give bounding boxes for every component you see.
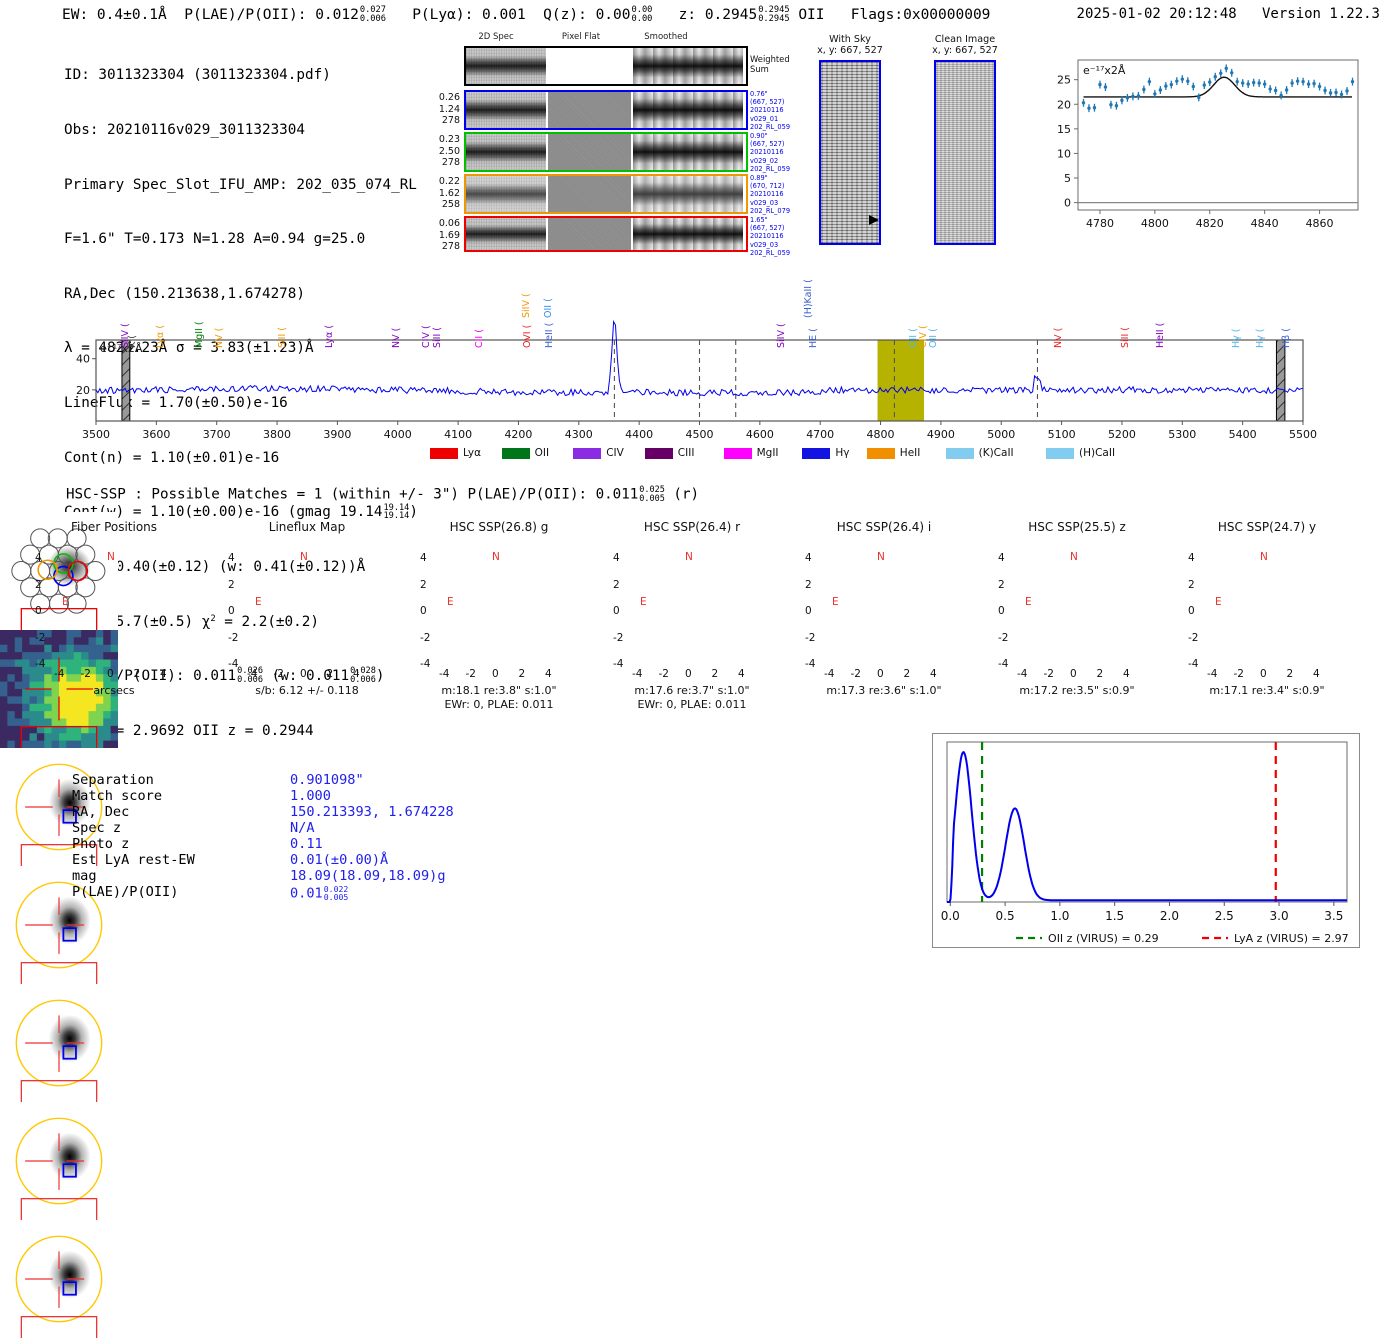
panel-4-xtick-0: -4 [824, 668, 834, 680]
weighted-sum-label-line2: Sum [750, 65, 790, 75]
match-val-plae-num: 0.01 [290, 885, 323, 901]
panel-2-xtick-2: 0 [492, 668, 499, 680]
panel-4-xtick-3: 2 [904, 668, 911, 680]
compass-east-label-0: E [62, 596, 69, 608]
panel-6-xtick-1: -2 [1234, 668, 1244, 680]
exposure-1-meta-1: (667, 527) [750, 98, 790, 106]
line-zoom-spectrum-plot: 051015202547804800482048404860e⁻¹⁷x2Å [1040, 52, 1370, 242]
match-val-plae: 0.010.0220.005 [290, 885, 348, 902]
svg-text:4400: 4400 [625, 428, 653, 441]
compass-east-label-4: E [832, 596, 839, 608]
exposure-2-meta-4: 202_RL_059 [750, 165, 790, 173]
svg-text:2.0: 2.0 [1160, 909, 1179, 923]
panel-6-xtick-0: -4 [1207, 668, 1217, 680]
panel-5-ytick-1: -2 [998, 632, 1008, 644]
match-key-specz: Spec z [72, 821, 121, 837]
compass-east-label-6: E [1215, 596, 1222, 608]
with-sky-title-text: With Sky [800, 34, 900, 45]
svg-text:25: 25 [1057, 74, 1071, 87]
exposure-4-meta-2: 20210116 [750, 232, 790, 240]
line-label-HeII-23: HeII ( [1155, 323, 1166, 348]
info-seeing: F=1.6" T=0.173 N=1.28 A=0.94 g=25.0 [64, 230, 418, 248]
full-spectrum-plot: 2040350036003700380039004000410042004300… [60, 268, 1360, 468]
svg-text:20: 20 [76, 384, 90, 397]
exposure-4-val-1: 0.06 [434, 218, 460, 230]
hsc-headline: HSC-SSP : Possible Matches = 1 (within +… [66, 486, 699, 503]
match-key-radec: RA, Dec [72, 805, 129, 821]
panel-0-ytick-4: 4 [35, 552, 42, 564]
panel-2-ytick-0: -4 [420, 658, 430, 670]
exposure-4-meta-3: v029_03 [750, 241, 790, 249]
match-key-estew: Est LyA rest-EW [72, 853, 195, 869]
line-label-HKaII-16: (H)KaII ( [803, 279, 814, 318]
exposure-4-meta-1: (667, 527) [750, 224, 790, 232]
svg-text:4600: 4600 [746, 428, 774, 441]
exposure-4-2dspec [466, 218, 546, 250]
panel-image-6[interactable] [0, 1220, 118, 1338]
exposure-3-values: 0.22 1.62 258 [434, 176, 460, 211]
header-qz-value: 0.00 [596, 7, 631, 23]
panel-6-xtick-2: 0 [1260, 668, 1267, 680]
panel-1-xtick-3: 2 [327, 668, 334, 680]
legend-swatch [724, 448, 752, 459]
exposure-4-smoothed [633, 218, 743, 250]
panel-5-ytick-4: 4 [998, 552, 1005, 564]
panel-title-2: HSC SSP(26.8) g [402, 520, 596, 534]
panel-1-ytick-0: -4 [228, 658, 238, 670]
clean-image-title: Clean Image x, y: 667, 527 [910, 34, 1020, 56]
legend-item-KCaII: (K)CaII [946, 447, 1014, 459]
with-sky-title: With Sky x, y: 667, 527 [800, 34, 900, 56]
exposure-3-meta: 0.89" (670, 712) 20210116 v029_03 202_RL… [750, 174, 790, 215]
panel-3-caption1: m:17.6 re:3.7" s:1.0" [583, 684, 801, 697]
line-label-NV-7: NV ( [391, 328, 402, 348]
panel-6-ytick-1: -2 [1188, 632, 1198, 644]
exposure-3-val-1: 0.22 [434, 176, 460, 188]
match-val-radec: 150.213393, 1.674228 [290, 805, 454, 821]
exposure-3-meta-3: v029_03 [750, 199, 790, 207]
legend-label: (H)CaII [1079, 447, 1115, 459]
panel-0-ytick-0: -4 [35, 658, 45, 670]
exposure-3-val-3: 258 [434, 199, 460, 211]
compass-north-label-2: N [492, 551, 500, 563]
legend-label: HeII [900, 447, 921, 459]
exposure-1-meta-0: 0.76" [750, 90, 790, 98]
spec2d-header-smoothed: Smoothed [626, 32, 706, 42]
exposure-4-meta-0: 1.65" [750, 216, 790, 224]
svg-text:1.0: 1.0 [1050, 909, 1069, 923]
line-label-NV-4: NV ( [214, 328, 225, 348]
panel-0-xtick-2: 0 [107, 668, 114, 680]
panel-title-4: HSC SSP(26.4) i [787, 520, 981, 534]
match-val-score: 1.000 [290, 789, 331, 805]
svg-text:5400: 5400 [1229, 428, 1257, 441]
panel-1-ytick-4: 4 [228, 552, 235, 564]
exposure-strip-2 [464, 132, 748, 172]
line-label-OII-20: OII ( [928, 328, 939, 348]
exposure-1-meta: 0.76" (667, 527) 20210116 v029_01 202_RL… [750, 90, 790, 131]
header-z-type: OII [798, 7, 824, 23]
svg-text:4800: 4800 [1141, 217, 1169, 230]
line-label-SiII-22: SiII ( [1120, 327, 1131, 348]
compass-east-label-1: E [255, 596, 262, 608]
match-key-plae: P(LAE)/P(OII) [72, 885, 178, 901]
svg-text:4900: 4900 [927, 428, 955, 441]
match-val-specz: N/A [290, 821, 315, 837]
panel-4-xtick-2: 0 [877, 668, 884, 680]
line-label-NV-21: NV ( [1053, 328, 1064, 348]
match-val-estew: 0.01(±0.00)Å [290, 853, 388, 869]
line-label-Ly-6: Lyα ( [324, 325, 335, 348]
header-version: Version 1.22.3 [1262, 6, 1380, 22]
svg-text:5: 5 [1064, 172, 1071, 185]
panel-4-ytick-0: -4 [805, 658, 815, 670]
exposure-1-val-1: 0.26 [434, 92, 460, 104]
compass-north-label-4: N [877, 551, 885, 563]
header-z-value: 0.2945 [705, 7, 757, 23]
match-val-separation: 0.901098" [290, 773, 364, 789]
panel-0-xtick-4: 4 [160, 668, 167, 680]
svg-text:3500: 3500 [82, 428, 110, 441]
panel-5-ytick-2: 0 [998, 605, 1005, 617]
exposure-3-meta-0: 0.89" [750, 174, 790, 182]
panel-1-xtick-4: 4 [353, 668, 360, 680]
compass-north-label-3: N [685, 551, 693, 563]
panel-6-ytick-0: -4 [1188, 658, 1198, 670]
legend-swatch [867, 448, 895, 459]
exposure-strip-3 [464, 174, 748, 214]
panel-4-ytick-3: 2 [805, 579, 812, 591]
exposure-2-meta-2: 20210116 [750, 148, 790, 156]
line-label-OII-14: OII ( [543, 298, 554, 318]
svg-text:4300: 4300 [565, 428, 593, 441]
panel-3-xtick-3: 2 [712, 668, 719, 680]
header-qz-lo: 0.00 [631, 14, 652, 24]
photz-pdf-plot: 0.00.51.01.52.02.53.03.5OII z (VIRUS) = … [932, 733, 1360, 948]
panel-6-caption1: m:17.1 re:3.4" s:0.9" [1158, 684, 1376, 697]
svg-text:5100: 5100 [1048, 428, 1076, 441]
panel-1-ytick-1: -2 [228, 632, 238, 644]
panel-3-ytick-4: 4 [613, 552, 620, 564]
info-primary-spec: Primary Spec_Slot_IFU_AMP: 202_035_074_R… [64, 176, 418, 194]
compass-east-label-2: E [447, 596, 454, 608]
svg-text:10: 10 [1057, 147, 1071, 160]
panel-2-caption1: m:18.1 re:3.8" s:1.0" [390, 684, 608, 697]
weighted-sum-smoothed [633, 48, 743, 84]
match-key-mag: mag [72, 869, 97, 885]
with-sky-coords: x, y: 667, 527 [800, 45, 900, 56]
panel-5-ytick-3: 2 [998, 579, 1005, 591]
line-label-H-25: Hγ ( [1255, 329, 1266, 349]
panel-3-xtick-4: 4 [738, 668, 745, 680]
svg-text:4800: 4800 [867, 428, 895, 441]
panel-3-xtick-1: -2 [659, 668, 669, 680]
exposure-1-meta-4: 202_RL_059 [750, 123, 790, 131]
panel-2-ytick-1: -2 [420, 632, 430, 644]
match-key-score: Match score [72, 789, 162, 805]
panel-5-xtick-4: 4 [1123, 668, 1130, 680]
hsc-headline-post: (r) [665, 487, 699, 503]
legend-swatch [573, 448, 601, 459]
info-id: ID: 3011323304 (3011323304.pdf) [64, 66, 418, 84]
exposure-3-meta-4: 202_RL_079 [750, 207, 790, 215]
info-obs: Obs: 20210116v029_3011323304 [64, 121, 418, 139]
panel-title-0: Fiber Positions [17, 520, 211, 534]
svg-text:4100: 4100 [444, 428, 472, 441]
panel-1-xtick-2: 0 [300, 668, 307, 680]
svg-text:4820: 4820 [1196, 217, 1224, 230]
header-plae-lo: 0.006 [360, 14, 386, 24]
weighted-sum-2dspec [466, 48, 546, 84]
line-label-HeII-13: HeII ( [544, 323, 555, 348]
compass-east-label-3: E [640, 596, 647, 608]
header-datetime: 2025-01-02 20:12:48 [1077, 6, 1237, 22]
hsc-headline-pre: HSC-SSP : Possible Matches = 1 (within +… [66, 487, 638, 503]
line-label-H-24: Hγ ( [1231, 329, 1242, 349]
svg-text:5300: 5300 [1168, 428, 1196, 441]
svg-text:15: 15 [1057, 123, 1071, 136]
legend-item-MgII: MgII [724, 447, 779, 459]
panel-5-xtick-3: 2 [1097, 668, 1104, 680]
svg-text:4200: 4200 [504, 428, 532, 441]
exposure-4-values: 0.06 1.69 278 [434, 218, 460, 253]
line-label-HE-17: HE ( [808, 328, 819, 348]
panel-2-ytick-2: 0 [420, 605, 427, 617]
with-sky-image [819, 60, 881, 245]
clean-image-coords: x, y: 667, 527 [910, 45, 1020, 56]
legend-item-HCaII: (H)CaII [1046, 447, 1115, 459]
legend-swatch [946, 448, 974, 459]
clean-image-title-text: Clean Image [910, 34, 1020, 45]
line-label-CII-10: CII ( [474, 329, 485, 348]
svg-text:3600: 3600 [142, 428, 170, 441]
exposure-strip-4 [464, 216, 748, 252]
panel-5-xtick-2: 0 [1070, 668, 1077, 680]
svg-text:4500: 4500 [686, 428, 714, 441]
panel-5-xtick-1: -2 [1044, 668, 1054, 680]
panel-1-ytick-3: 2 [228, 579, 235, 591]
panel-5-xtick-0: -4 [1017, 668, 1027, 680]
svg-text:LyA z (VIRUS) = 2.97: LyA z (VIRUS) = 2.97 [1234, 932, 1349, 945]
panel-image-4[interactable] [0, 984, 118, 1102]
header-ew: EW: 0.4±0.1Å [62, 7, 167, 23]
legend-label: Lyα [463, 447, 481, 459]
legend-label: CIV [606, 447, 624, 459]
panel-6-ytick-4: 4 [1188, 552, 1195, 564]
svg-text:e⁻¹⁷x2Å: e⁻¹⁷x2Å [1083, 64, 1126, 77]
line-label-MgII-3: MgII ( [194, 321, 205, 348]
svg-text:4700: 4700 [806, 428, 834, 441]
header-qz-label: Q(z): [543, 7, 587, 23]
panel-6-ytick-2: 0 [1188, 605, 1195, 617]
exposure-1-val-3: 278 [434, 115, 460, 127]
exposure-4-meta: 1.65" (667, 527) 20210116 v029_03 202_RL… [750, 216, 790, 257]
svg-text:4000: 4000 [384, 428, 412, 441]
header-flags: Flags:0x00000009 [851, 7, 991, 23]
exposure-1-meta-2: 20210116 [750, 106, 790, 114]
svg-text:1.5: 1.5 [1105, 909, 1124, 923]
exposure-3-meta-1: (670, 712) [750, 182, 790, 190]
panel-0-ytick-3: 2 [35, 579, 42, 591]
exposure-2-val-2: 2.50 [434, 146, 460, 158]
clean-image-pixels [936, 62, 994, 243]
line-label-Ly-2: Lyα ( [155, 325, 166, 348]
panel-0-xtick-1: -2 [81, 668, 91, 680]
legend-swatch [802, 448, 830, 459]
panel-4-xtick-4: 4 [930, 668, 937, 680]
match-val-photoz: 0.11 [290, 837, 323, 853]
match-val-plae-lo: 0.005 [324, 892, 349, 902]
exposure-1-meta-3: v029_01 [750, 115, 790, 123]
panel-4-ytick-1: -2 [805, 632, 815, 644]
panel-title-3: HSC SSP(26.4) r [595, 520, 789, 534]
svg-text:20: 20 [1057, 98, 1071, 111]
legend-item-CIII: CIII [645, 447, 695, 459]
svg-text:2.5: 2.5 [1215, 909, 1234, 923]
svg-text:5000: 5000 [987, 428, 1015, 441]
legend-label: MgII [757, 447, 779, 459]
legend-item-OII: OII [502, 447, 549, 459]
svg-text:4780: 4780 [1086, 217, 1114, 230]
svg-text:5200: 5200 [1108, 428, 1136, 441]
svg-text:0: 0 [1064, 197, 1071, 210]
line-label-H-26: Hβ ( [1281, 328, 1292, 348]
hsc-headline-lo: 0.005 [639, 494, 665, 504]
legend-label: OII [535, 447, 549, 459]
panel-title-5: HSC SSP(25.5) z [980, 520, 1174, 534]
panel-2-caption2: EWr: 0, PLAE: 0.011 [390, 698, 608, 711]
svg-text:3700: 3700 [203, 428, 231, 441]
exposure-3-meta-2: 20210116 [750, 190, 790, 198]
exposure-4-meta-4: 202_RL_059 [750, 249, 790, 257]
exposure-4-val-2: 1.69 [434, 230, 460, 242]
exposure-3-val-2: 1.62 [434, 188, 460, 200]
compass-north-label-1: N [300, 551, 308, 563]
panel-2-ytick-3: 2 [420, 579, 427, 591]
exposure-2-values: 0.23 2.50 278 [434, 134, 460, 169]
exposure-2-val-1: 0.23 [434, 134, 460, 146]
exposure-4-val-3: 278 [434, 241, 460, 253]
panel-0-ytick-1: -2 [35, 632, 45, 644]
panel-2-ytick-4: 4 [420, 552, 427, 564]
line-label-SiIV-15: SiIV ( [776, 323, 787, 348]
panel-title-6: HSC SSP(24.7) y [1170, 520, 1364, 534]
panel-5-caption1: m:17.2 re:3.5" s:0.9" [968, 684, 1186, 697]
exposure-2-pixelflat [548, 134, 631, 170]
exposure-2-meta-1: (667, 527) [750, 140, 790, 148]
exposure-1-pixelflat [548, 92, 631, 128]
line-label-K-1: K ( [127, 335, 138, 348]
svg-text:40: 40 [76, 353, 90, 366]
match-val-mag: 18.09(18.09,18.09)g [290, 869, 446, 885]
panel-5-ytick-0: -4 [998, 658, 1008, 670]
legend-label: (K)CaII [979, 447, 1014, 459]
compass-east-label-5: E [1025, 596, 1032, 608]
panel-4-ytick-4: 4 [805, 552, 812, 564]
exposure-1-values: 0.26 1.24 278 [434, 92, 460, 127]
spec2d-header-2dspec: 2D Spec [456, 32, 536, 42]
panel-3-caption2: EWr: 0, PLAE: 0.011 [583, 698, 801, 711]
exposure-2-2dspec [466, 134, 546, 170]
panel-3-ytick-0: -4 [613, 658, 623, 670]
panel-0-xtick-3: 2 [134, 668, 141, 680]
weighted-sum-label: Weighted Sum [750, 55, 790, 74]
legend-label: Hγ [835, 447, 849, 459]
svg-text:3.5: 3.5 [1324, 909, 1343, 923]
line-label-SiII-5: SiII ( [277, 327, 288, 348]
svg-text:3800: 3800 [263, 428, 291, 441]
exposure-2-meta-3: v029_02 [750, 157, 790, 165]
panel-2-xtick-1: -2 [466, 668, 476, 680]
weighted-sum-pixelflat [548, 48, 631, 84]
header-z-lo: 0.2945 [758, 14, 789, 24]
legend-item-H: Hγ [802, 447, 849, 459]
legend-swatch [430, 448, 458, 459]
exposure-1-val-2: 1.24 [434, 104, 460, 116]
svg-text:4840: 4840 [1251, 217, 1279, 230]
exposure-2-val-3: 278 [434, 157, 460, 169]
match-key-separation: Separation [72, 773, 154, 789]
line-label-OVI-11: OVI ( [522, 325, 533, 348]
panel-3-ytick-2: 0 [613, 605, 620, 617]
emission-line-legend: LyαOIICIVCIIIMgIIHγHeII(K)CaII(H)CaII [430, 447, 975, 467]
legend-swatch [502, 448, 530, 459]
panel-1-xtick-0: -4 [247, 668, 257, 680]
match-key-photoz: Photo z [72, 837, 129, 853]
exposure-1-smoothed [633, 92, 743, 128]
legend-label: CIII [678, 447, 695, 459]
legend-swatch [1046, 448, 1074, 459]
legend-item-HeII: HeII [867, 447, 921, 459]
header-timestamp-version: 2025-01-02 20:12:48 Version 1.22.3 [1077, 6, 1380, 22]
header-plae-value: 0.012 [315, 7, 359, 23]
weighted-sum-strip [464, 46, 748, 86]
header-plae-label: P(LAE)/P(OII): [184, 7, 306, 23]
svg-text:3.0: 3.0 [1270, 909, 1289, 923]
legend-item-Ly: Lyα [430, 447, 481, 459]
panel-4-caption1: m:17.3 re:3.6" s:1.0" [775, 684, 993, 697]
panel-image-5[interactable] [0, 1102, 118, 1220]
exposure-2-meta-0: 0.90" [750, 132, 790, 140]
legend-swatch [645, 448, 673, 459]
line-label-SiII-9: SiII ( [432, 327, 443, 348]
panel-3-ytick-1: -2 [613, 632, 623, 644]
panel-3-xtick-2: 0 [685, 668, 692, 680]
panel-6-xtick-4: 4 [1313, 668, 1320, 680]
panel-0-xlabel: arcsecs [15, 684, 213, 697]
panel-2-xtick-3: 2 [519, 668, 526, 680]
svg-text:5500: 5500 [1289, 428, 1317, 441]
spec2d-header-pixelflat: Pixel Flat [541, 32, 621, 42]
panel-4-xtick-1: -2 [851, 668, 861, 680]
exposure-3-smoothed [633, 176, 743, 212]
line-label-SiIV-12: SiIV ( [521, 293, 532, 318]
svg-text:OII z (VIRUS) = 0.29: OII z (VIRUS) = 0.29 [1048, 932, 1159, 945]
legend-item-CIV: CIV [573, 447, 624, 459]
compass-north-label-0: N [107, 551, 115, 563]
svg-text:0.0: 0.0 [941, 909, 960, 923]
panel-1-xtick-1: -2 [274, 668, 284, 680]
svg-text:3900: 3900 [323, 428, 351, 441]
compass-north-label-5: N [1070, 551, 1078, 563]
header-z-label: z: [679, 7, 696, 23]
cutout-panel-row: Fiber PositionsNE-4-4-2-2002244arcsecsLi… [0, 512, 1400, 727]
exposure-2-smoothed [633, 134, 743, 170]
panel-2-xtick-4: 4 [545, 668, 552, 680]
exposure-2-meta: 0.90" (667, 527) 20210116 v029_02 202_RL… [750, 132, 790, 173]
svg-text:0.5: 0.5 [996, 909, 1015, 923]
panel-6-ytick-3: 2 [1188, 579, 1195, 591]
